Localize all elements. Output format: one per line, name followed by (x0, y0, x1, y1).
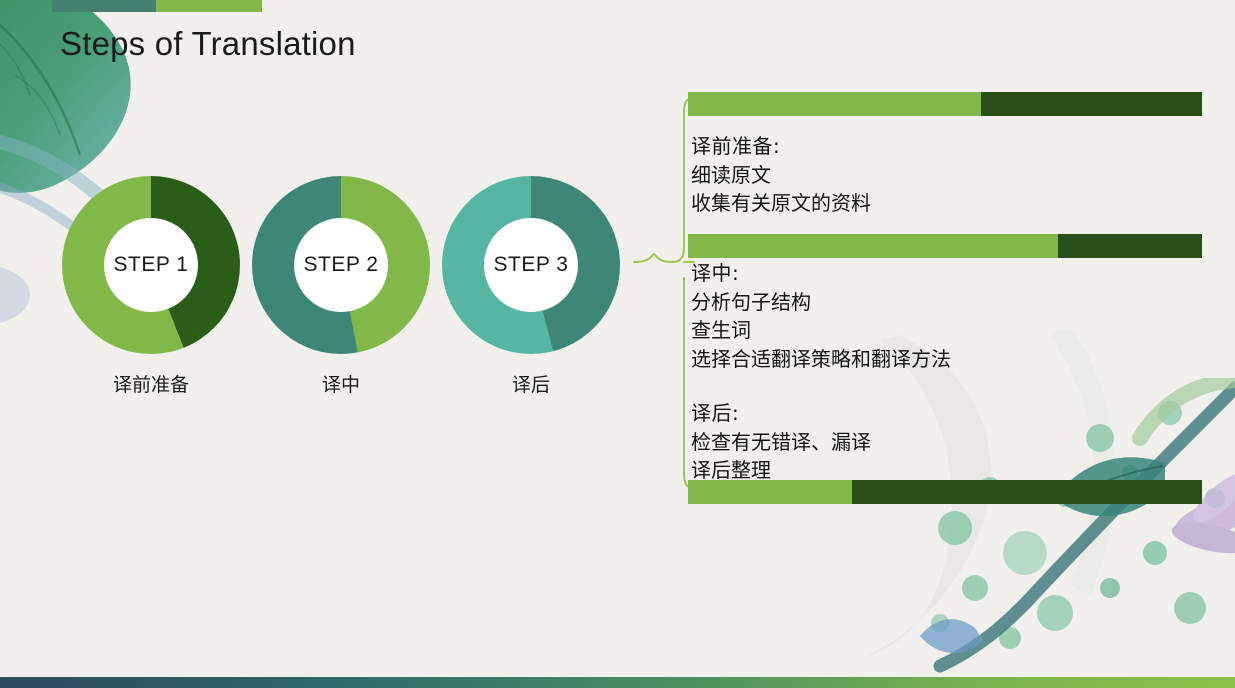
content-block-1-heading: 译前准备: (691, 132, 1203, 161)
content-block-1-line-2: 收集有关原文的资料 (691, 189, 1203, 218)
progress-bar-1[interactable] (688, 92, 1202, 116)
slide-canvas: Steps of Translation STEP 1 译前准备 STEP 2 … (0, 0, 1235, 688)
page-title: Steps of Translation (60, 24, 356, 64)
content-block-3-line-1: 检查有无错译、漏译 (691, 428, 1203, 457)
step-donut-chart-1: STEP 1 (62, 176, 240, 354)
step-label-3: STEP 3 (494, 253, 569, 277)
content-block-3: 译后: 检查有无错译、漏译 译后整理 (691, 399, 1203, 485)
content-block-2-heading: 译中: (691, 259, 1203, 288)
content-block-1: 译前准备: 细读原文 收集有关原文的资料 (691, 132, 1203, 218)
top-ribbon-segment-green (156, 0, 262, 12)
progress-bar-2-track (1058, 234, 1202, 258)
step-item-1[interactable]: STEP 1 译前准备 (62, 176, 240, 397)
content-block-1-line-1: 细读原文 (691, 161, 1203, 190)
step-caption-1: 译前准备 (62, 370, 240, 397)
step-label-1: STEP 1 (114, 253, 189, 277)
progress-bar-1-fill (688, 92, 981, 116)
step-donut-chart-3: STEP 3 (442, 176, 620, 354)
step-donut-hole-1: STEP 1 (104, 218, 198, 312)
step-caption-3: 译后 (442, 370, 620, 397)
content-panel: 译前准备: 细读原文 收集有关原文的资料 译中: 分析句子结构 查生词 选择合适… (688, 0, 1208, 688)
step-donut-chart-2: STEP 2 (252, 176, 430, 354)
progress-bar-2[interactable] (688, 234, 1202, 258)
progress-bar-2-fill (688, 234, 1058, 258)
step-caption-2: 译中 (252, 370, 430, 397)
step-donut-group: STEP 1 译前准备 STEP 2 译中 STEP 3 译后 (62, 176, 642, 391)
bottom-gradient-bar (0, 677, 1235, 688)
step-donut-hole-2: STEP 2 (294, 218, 388, 312)
bracket-connector (624, 88, 696, 508)
step-item-3[interactable]: STEP 3 译后 (442, 176, 620, 397)
content-block-2-line-1: 分析句子结构 (691, 288, 1203, 317)
top-ribbon (52, 0, 262, 12)
content-block-2: 译中: 分析句子结构 查生词 选择合适翻译策略和翻译方法 (691, 259, 1203, 373)
content-block-3-heading: 译后: (691, 399, 1203, 428)
content-block-2-line-3: 选择合适翻译策略和翻译方法 (691, 345, 1203, 374)
content-block-2-line-2: 查生词 (691, 316, 1203, 345)
step-donut-hole-3: STEP 3 (484, 218, 578, 312)
content-block-3-line-2: 译后整理 (691, 456, 1203, 485)
top-ribbon-segment-teal (52, 0, 156, 12)
step-item-2[interactable]: STEP 2 译中 (252, 176, 430, 397)
progress-bar-1-track (981, 92, 1202, 116)
step-label-2: STEP 2 (304, 253, 379, 277)
